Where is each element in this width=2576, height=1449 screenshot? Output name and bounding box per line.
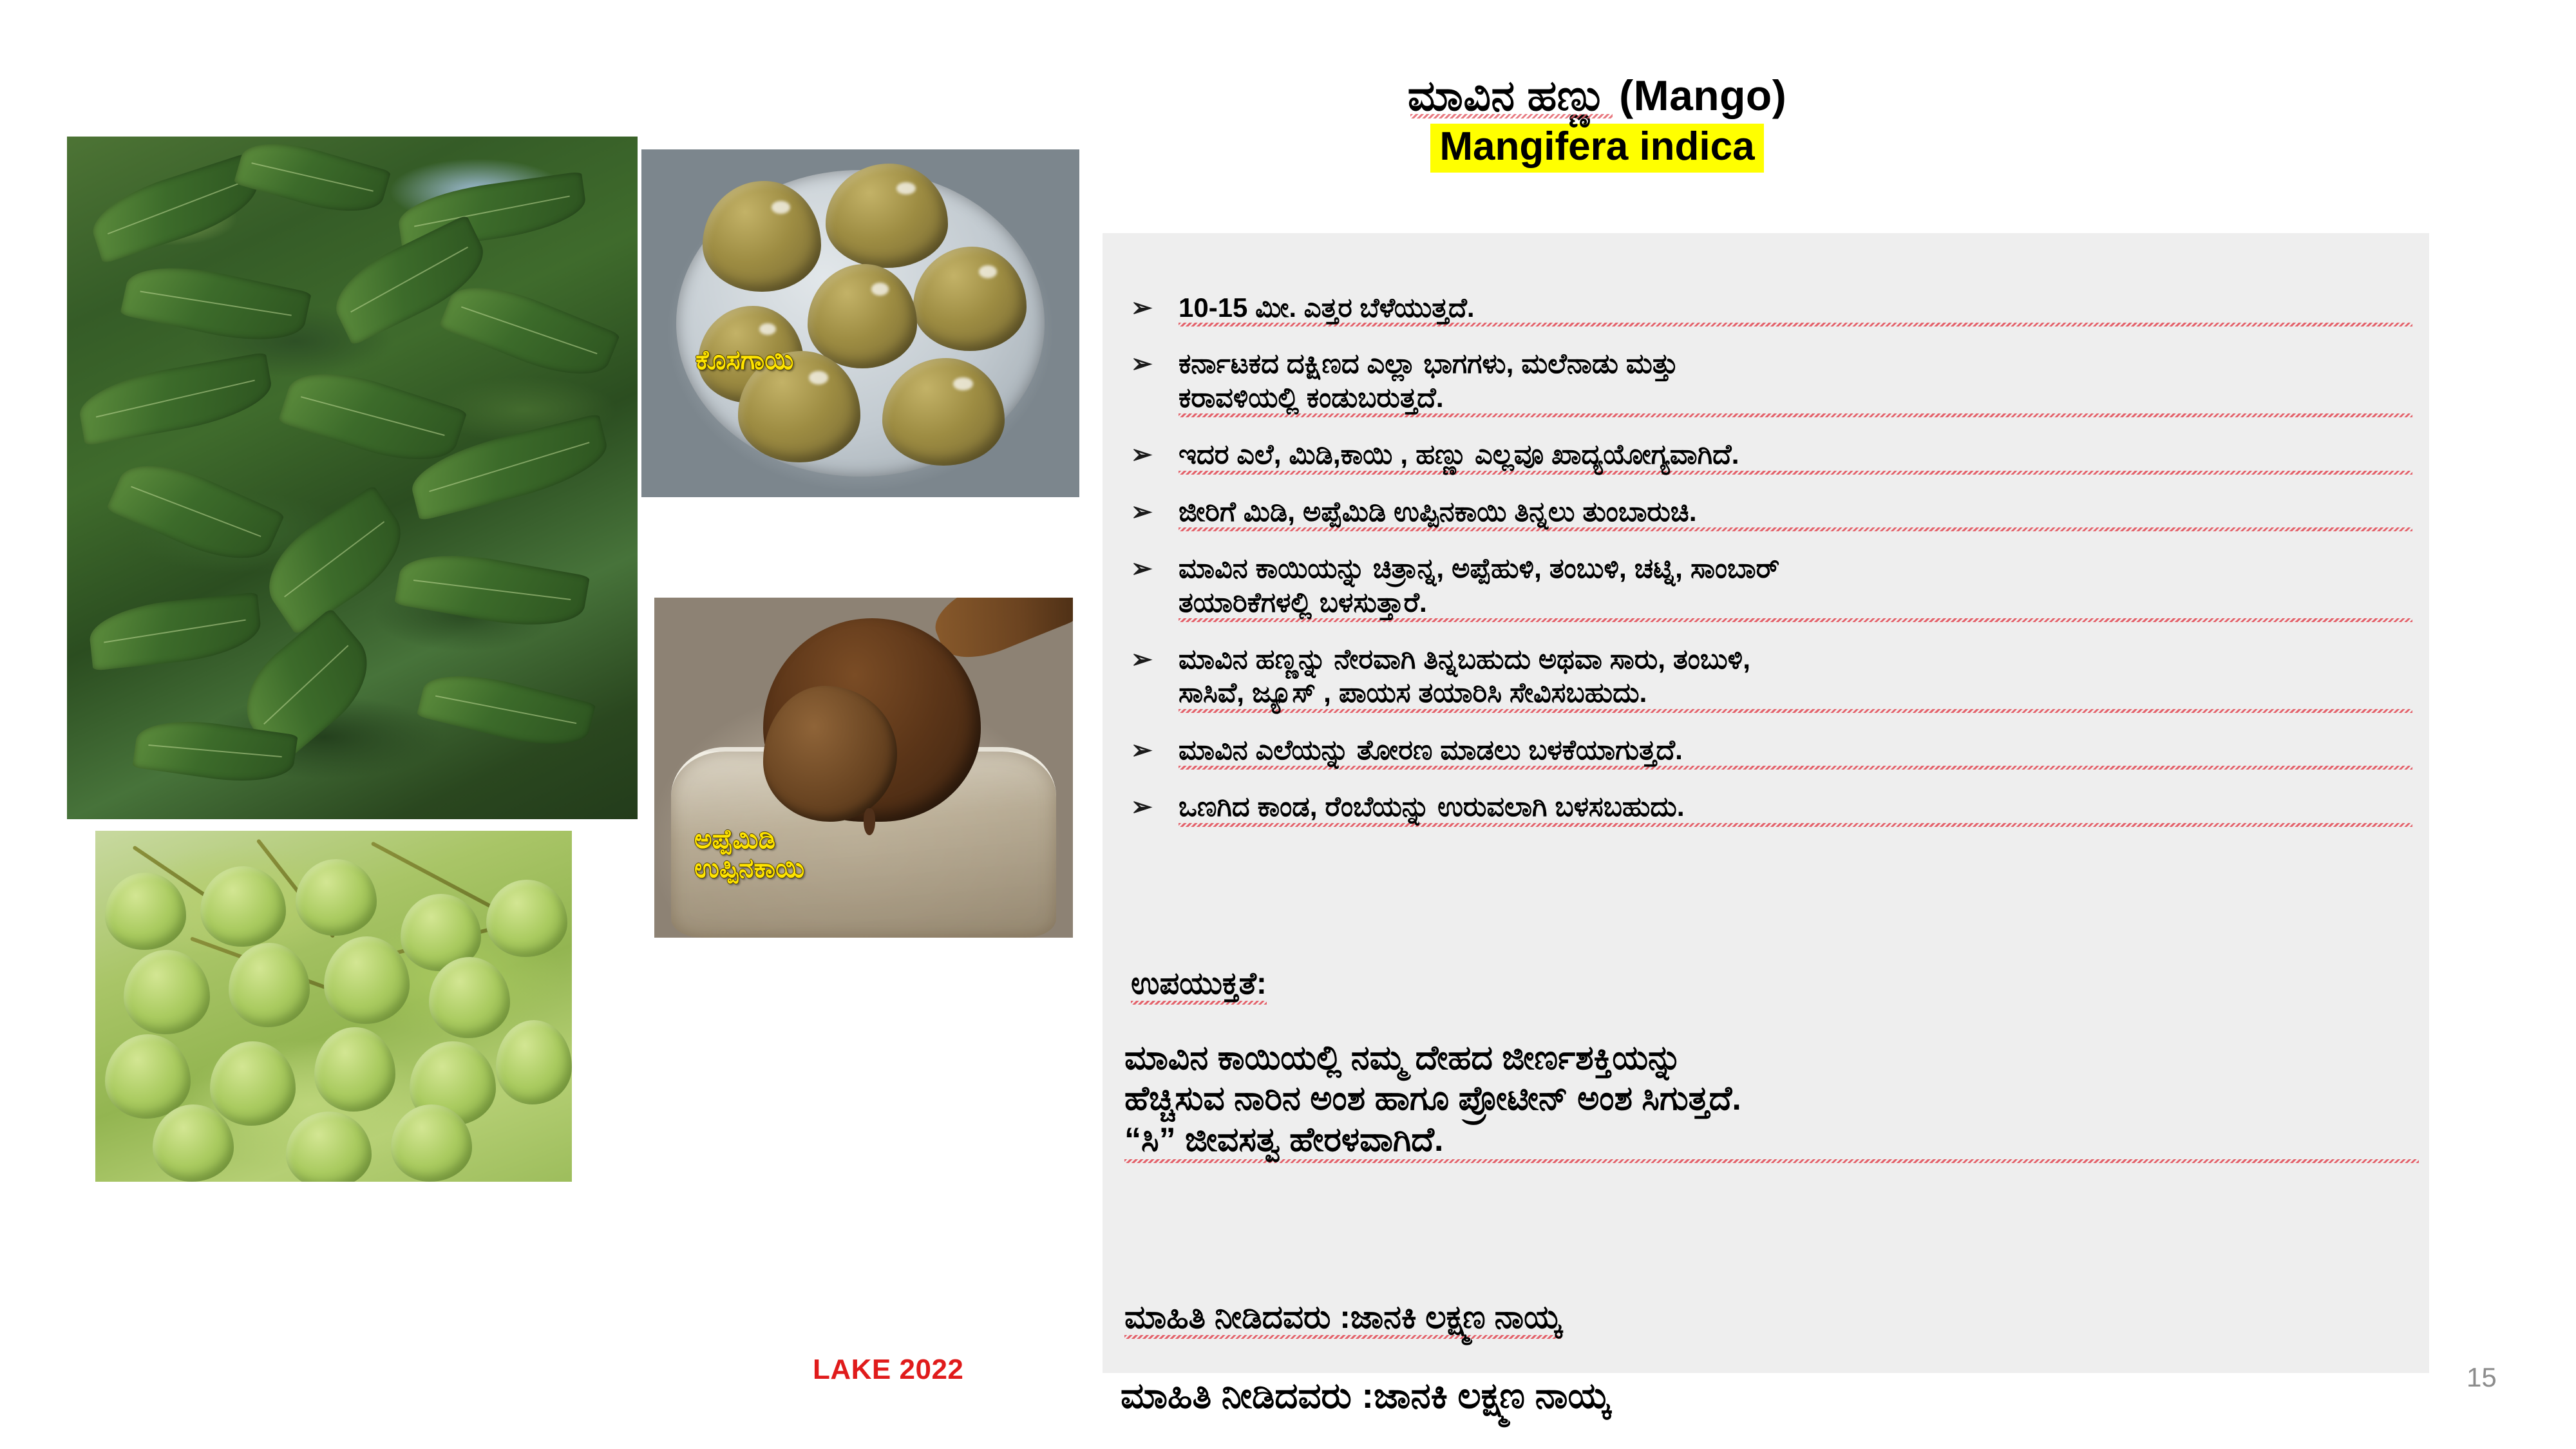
list-item-text: ಇದರ ಎಲೆ, ಮಿಡಿ,ಕಾಯಿ , ಹಣ್ಣು ಎಲ್ಲವೂ ಖಾದ್ಯಯ…: [1179, 438, 2412, 475]
page-number: 15: [2467, 1362, 2497, 1393]
list-item-text: ಮಾವಿನ ಎಲೆಯನ್ನು ತೋರಣ ಮಾಡಲು ಬಳಕೆಯಾಗುತ್ತದೆ.: [1179, 734, 2412, 771]
usefulness-heading: ಉಪಯುಕ್ತತೆ:: [1131, 966, 1267, 1006]
credit-line-inside-panel: ಮಾಹಿತಿ ನೀಡಿದವರು :ಜಾನಕಿ ಲಕ್ಷ್ಮಣ ನಾಯ್ಕ: [1124, 1298, 1561, 1340]
list-item: ➢ ಕರ್ನಾಟಕದ ದಕ್ಷಿಣದ ಎಲ್ಲಾ ಭಾಗಗಳು, ಮಲೆನಾಡು…: [1131, 347, 2412, 419]
list-item: ➢ ಮಾವಿನ ಹಣ್ಣನ್ನು ನೇರವಾಗಿ ತಿನ್ನಬಹುದು ಅಥವಾ…: [1131, 643, 2412, 714]
scientific-name-highlight: Mangifera indica: [1430, 124, 1763, 173]
slide-canvas: ಕೊಸಗಾಯಿ ಅಪ್ಪೆಮಿಡಿ ಉಪ್ಪಿನಕಾಯಿ ಮ: [0, 0, 2576, 1449]
list-item-text: ಒಣಗಿದ ಕಾಂಡ, ರೆಂಬೆಯನ್ನು ಉರುವಲಾಗಿ ಬಳಸಬಹುದು…: [1179, 790, 2412, 828]
list-item-text: ಮಾವಿನ ಹಣ್ಣನ್ನು ನೇರವಾಗಿ ತಿನ್ನಬಹುದು ಅಥವಾ ಸ…: [1179, 643, 2412, 714]
arrow-bullet-icon: ➢: [1131, 734, 1179, 766]
list-item: ➢ ಜೀರಿಗೆ ಮಿಡಿ, ಅಪ್ಪೆಮಿಡಿ ಉಪ್ಪಿನಕಾಯಿ ತಿನ್…: [1131, 495, 2412, 533]
list-item-text: 10-15 ಮೀ. ಎತ್ತರ ಬೆಳೆಯುತ್ತದೆ.: [1179, 291, 2412, 328]
arrow-bullet-icon: ➢: [1131, 495, 1179, 528]
list-item-text: ಮಾವಿನ ಕಾಯಿಯನ್ನು ಚಿತ್ರಾನ್ನ, ಅಪ್ಪೆಹುಳಿ, ತಂ…: [1179, 552, 2412, 623]
mangoes-in-bowl-photo: [641, 149, 1079, 497]
list-item-text: ಜೀರಿಗೆ ಮಿಡಿ, ಅಪ್ಪೆಮಿಡಿ ಉಪ್ಪಿನಕಾಯಿ ತಿನ್ನಲ…: [1179, 495, 2412, 533]
arrow-bullet-icon: ➢: [1131, 643, 1179, 676]
list-item: ➢ ಒಣಗಿದ ಕಾಂಡ, ರೆಂಬೆಯನ್ನು ಉರುವಲಾಗಿ ಬಳಸಬಹು…: [1131, 790, 2412, 828]
list-item: ➢ 10-15 ಮೀ. ಎತ್ತರ ಬೆಳೆಯುತ್ತದೆ.: [1131, 291, 2412, 328]
arrow-bullet-icon: ➢: [1131, 291, 1179, 324]
arrow-bullet-icon: ➢: [1131, 347, 1179, 380]
title-block: ಮಾವಿನ ಹಣ್ಣು (Mango) Mangifera indica: [1095, 72, 2099, 173]
appemidi-pickle-photo: [654, 598, 1073, 938]
list-item-text: ಕರ್ನಾಟಕದ ದಕ್ಷಿಣದ ಎಲ್ಲಾ ಭಾಗಗಳು, ಮಲೆನಾಡು ಮ…: [1179, 347, 2412, 419]
page-title-text: ಮಾವಿನ ಹಣ್ಣು (Mango): [1408, 71, 1786, 119]
bullet-list: ➢ 10-15 ಮೀ. ಎತ್ತರ ಬೆಳೆಯುತ್ತದೆ. ➢ ಕರ್ನಾಟಕ…: [1131, 291, 2412, 848]
arrow-bullet-icon: ➢: [1131, 438, 1179, 471]
mango-tree-photo: [67, 137, 638, 819]
lake-2022-tag: LAKE 2022: [813, 1354, 963, 1386]
usefulness-body: ಮಾವಿನ ಕಾಯಿಯಲ್ಲಿ ನಮ್ಮ ದೇಹದ ಜೀರ್ಣಶಕ್ತಿಯನ್ನ…: [1124, 1038, 2419, 1166]
list-item: ➢ ಇದರ ಎಲೆ, ಮಿಡಿ,ಕಾಯಿ , ಹಣ್ಣು ಎಲ್ಲವೂ ಖಾದ್…: [1131, 438, 2412, 475]
list-item: ➢ ಮಾವಿನ ಎಲೆಯನ್ನು ತೋರಣ ಮಾಡಲು ಬಳಕೆಯಾಗುತ್ತದ…: [1131, 734, 2412, 771]
page-title: ಮಾವಿನ ಹಣ್ಣು (Mango): [1408, 72, 1786, 120]
credit-line-below-panel: ಮಾಹಿತಿ ನೀಡಿದವರು :ಜಾನಕಿ ಲಕ್ಷ್ಮಣ ನಾಯ್ಕ: [1121, 1374, 1610, 1417]
pickle-piece-shape: [763, 686, 897, 822]
list-item: ➢ ಮಾವಿನ ಕಾಯಿಯನ್ನು ಚಿತ್ರಾನ್ನ, ಅಪ್ಪೆಹುಳಿ, …: [1131, 552, 2412, 623]
green-raw-mangoes-photo: [95, 831, 572, 1182]
title-spellcheck-underline: [1410, 114, 1613, 118]
arrow-bullet-icon: ➢: [1131, 552, 1179, 585]
arrow-bullet-icon: ➢: [1131, 790, 1179, 823]
